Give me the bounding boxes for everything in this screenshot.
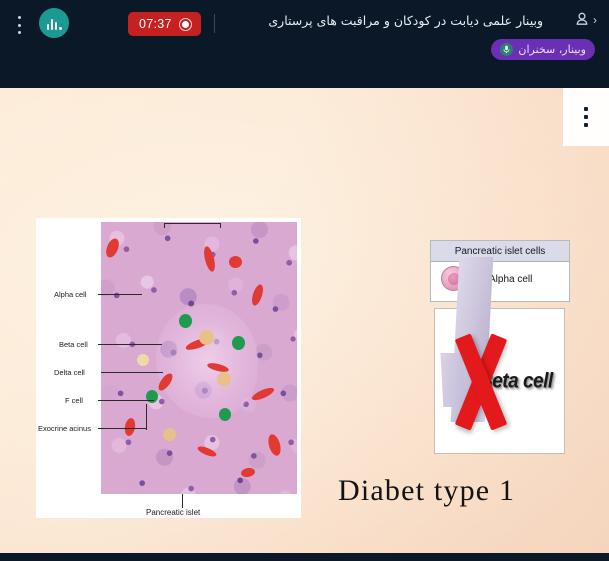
kebab-menu-icon xyxy=(18,16,21,19)
top-bracket xyxy=(220,223,221,228)
meeting-title: وبینار علمی دیابت در کودکان و مراقبت های… xyxy=(268,13,543,28)
toolbar-divider xyxy=(214,14,215,33)
leader-line xyxy=(101,372,163,373)
label-alpha-cell: Alpha cell xyxy=(54,290,87,299)
participants-person-icon xyxy=(575,11,592,28)
label-beta-cell: Beta cell xyxy=(59,340,88,349)
islet-cells-title: Pancreatic islet cells xyxy=(455,246,546,257)
alpha-cell-label: Alpha cell xyxy=(489,274,532,285)
beta-cell-card: Beta cell xyxy=(434,308,565,454)
top-bracket xyxy=(164,223,220,224)
alpha-cell-row: Alpha cell xyxy=(431,262,569,302)
islet-cells-header: Pancreatic islet cells xyxy=(431,241,569,262)
histology-image xyxy=(101,222,297,494)
top-bracket xyxy=(164,223,165,228)
slide-options-button[interactable] xyxy=(563,88,609,146)
recording-timer-badge[interactable]: 07:37 xyxy=(128,12,201,36)
record-dot-icon xyxy=(179,18,192,31)
app-menu-button[interactable] xyxy=(12,14,26,36)
bottom-bar xyxy=(0,553,609,561)
microphone-icon xyxy=(500,43,513,56)
pancreas-histology-figure: Alpha cell Beta cell Delta cell F cell E… xyxy=(36,218,301,518)
chevron-right-icon: › xyxy=(593,14,597,26)
leader-line xyxy=(98,400,154,401)
leader-line xyxy=(98,344,162,345)
islet-cells-card: Pancreatic islet cells Alpha cell xyxy=(430,240,570,302)
recording-time: 07:37 xyxy=(139,17,172,31)
participants-button[interactable]: › xyxy=(575,11,597,28)
kebab-menu-icon xyxy=(18,24,21,27)
slide-title: Diabet type 1 xyxy=(338,474,515,508)
kebab-menu-icon xyxy=(18,31,21,34)
role-badge-label: وبینار، سخنران xyxy=(518,43,586,56)
label-f-cell: F cell xyxy=(65,396,83,405)
leader-line xyxy=(146,404,147,430)
histology-caption: Pancreatic islet xyxy=(146,508,200,517)
leader-line xyxy=(98,294,142,295)
logo-bars xyxy=(47,19,62,30)
beta-cell-icon xyxy=(451,257,494,422)
webinar-screen: 07:37 وبینار علمی دیابت در کودکان و مراق… xyxy=(0,0,609,561)
leader-line xyxy=(98,428,146,429)
beta-cell-label: Beta cell xyxy=(479,370,553,394)
label-exocrine-acinus: Exocrine acinus xyxy=(38,424,91,433)
bar-chart-logo-icon[interactable] xyxy=(39,8,69,38)
role-badge[interactable]: وبینار، سخنران xyxy=(491,39,595,60)
label-delta-cell: Delta cell xyxy=(54,368,85,377)
top-bar: 07:37 وبینار علمی دیابت در کودکان و مراق… xyxy=(0,0,609,88)
caption-leader xyxy=(182,494,183,508)
presentation-slide: Alpha cell Beta cell Delta cell F cell E… xyxy=(0,88,609,553)
slide-kebab-menu-icon xyxy=(584,107,588,127)
